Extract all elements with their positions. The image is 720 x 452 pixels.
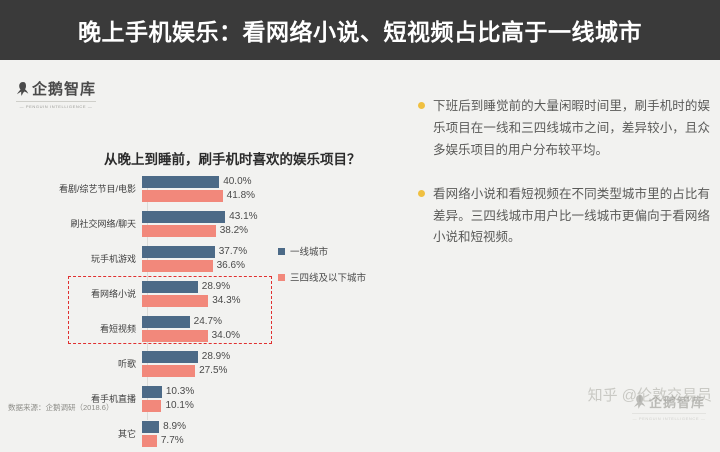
chart-bar-group: 10.3% [142, 386, 410, 398]
chart-bar-group: 37.7% [142, 246, 410, 258]
brand-tagline: — PENGUIN INTELLIGENCE — [12, 104, 100, 109]
chart-row-bars: 43.1%38.2% [142, 211, 410, 239]
chart-row: 听歌28.9%27.5% [0, 347, 410, 382]
chart-bar[interactable] [142, 351, 198, 363]
chart-bar-group: 8.9% [142, 421, 410, 433]
chart-bar-value: 43.1% [229, 211, 257, 222]
chart-legend: 一线城市 三四线及以下城市 [278, 244, 366, 296]
chart-row-label: 看剧/综艺节目/电影 [0, 185, 142, 195]
chart-bar-value: 41.8% [227, 190, 255, 201]
watermark-brand-logo: 企鹅智库 — PENGUIN INTELLIGENCE — [626, 392, 712, 421]
chart-bar[interactable] [142, 176, 219, 188]
page-title: 晚上手机娱乐：看网络小说、短视频占比高于一线城市 [78, 13, 642, 47]
watermark-brand-name: 企鹅智库 [649, 392, 705, 411]
chart-bar[interactable] [142, 246, 215, 258]
chart-bar[interactable] [142, 400, 161, 412]
chart-bar-value: 40.0% [223, 176, 251, 187]
legend-swatch-icon [278, 274, 285, 281]
chart-bar-group: 38.2% [142, 225, 410, 237]
chart-bar[interactable] [142, 225, 216, 237]
commentary-panel: 下班后到睡觉前的大量闲暇时间里，刷手机时的娱乐项目在一线和三四线城市之间，差异较… [418, 96, 710, 271]
chart-bar[interactable] [142, 330, 208, 342]
chart-bar-value: 37.7% [219, 246, 247, 257]
chart-bar-group: 24.7% [142, 316, 410, 328]
chart-row-label: 刷社交网络/聊天 [0, 220, 142, 230]
chart-row: 刷社交网络/聊天43.1%38.2% [0, 207, 410, 242]
watermark-brand-tagline: — PENGUIN INTELLIGENCE — [626, 416, 712, 421]
chart-bar[interactable] [142, 295, 208, 307]
chart-bar-group: 28.9% [142, 281, 410, 293]
chart-row-bars: 8.9%7.7% [142, 421, 410, 449]
chart-bar-group: 36.6% [142, 260, 410, 272]
chart-bar-value: 34.3% [212, 295, 240, 306]
chart-row-label: 看短视频 [0, 325, 142, 335]
chart-bar[interactable] [142, 316, 190, 328]
legend-item-tier34[interactable]: 三四线及以下城市 [278, 270, 366, 284]
chart-bar[interactable] [142, 190, 223, 202]
chart-row-label: 看网络小说 [0, 290, 142, 300]
commentary-bullet: 下班后到睡觉前的大量闲暇时间里，刷手机时的娱乐项目在一线和三四线城市之间，差异较… [418, 96, 710, 162]
chart-bar-group: 10.1% [142, 400, 410, 412]
legend-item-tier1[interactable]: 一线城市 [278, 244, 366, 258]
chart-bar[interactable] [142, 211, 225, 223]
chart-row-bars: 10.3%10.1% [142, 386, 410, 414]
chart-bar-group: 27.5% [142, 365, 410, 377]
chart-bar[interactable] [142, 386, 162, 398]
chart-bar[interactable] [142, 260, 213, 272]
chart-bar-group: 43.1% [142, 211, 410, 223]
brand-logo-main: 企鹅智库 [12, 78, 100, 99]
chart-row-bars: 40.0%41.8% [142, 176, 410, 204]
slide-body: 企鹅智库 — PENGUIN INTELLIGENCE — 从晚上到睡前，刷手机… [0, 60, 720, 423]
legend-swatch-icon [278, 248, 285, 255]
chart-row: 看短视频24.7%34.0% [0, 312, 410, 347]
chart-bar-value: 36.6% [217, 260, 245, 271]
bullet-dot-icon [418, 102, 425, 109]
chart-bar-value: 10.3% [166, 386, 194, 397]
source-note: 数据来源：企鹅调研（2018.6） [8, 402, 113, 413]
chart-row-bars: 37.7%36.6% [142, 246, 410, 274]
legend-label: 三四线及以下城市 [290, 270, 366, 284]
chart-bar[interactable] [142, 365, 195, 377]
chart-bar-value: 38.2% [220, 225, 248, 236]
chart-bar[interactable] [142, 281, 198, 293]
commentary-bullet: 看网络小说和看短视频在不同类型城市里的占比有差异。三四线城市用户比一线城市更偏向… [418, 184, 710, 250]
commentary-bullet-text: 下班后到睡觉前的大量闲暇时间里，刷手机时的娱乐项目在一线和三四线城市之间，差异较… [433, 96, 710, 162]
chart-bar-value: 28.9% [202, 281, 230, 292]
chart-bar-value: 27.5% [199, 365, 227, 376]
watermark-brand-main: 企鹅智库 [626, 392, 712, 411]
chart-row: 其它8.9%7.7% [0, 417, 410, 452]
bar-chart: 看剧/综艺节目/电影40.0%41.8%刷社交网络/聊天43.1%38.2%玩手… [0, 172, 410, 422]
brand-name: 企鹅智库 [32, 78, 96, 99]
chart-bar-value: 24.7% [194, 316, 222, 327]
brand-logo: 企鹅智库 — PENGUIN INTELLIGENCE — [12, 78, 100, 109]
penguin-icon [633, 394, 647, 410]
bullet-dot-icon [418, 190, 425, 197]
chart-row-label: 玩手机游戏 [0, 255, 142, 265]
chart-bar-group: 28.9% [142, 351, 410, 363]
chart-row-label: 听歌 [0, 360, 142, 370]
chart-bar-value: 10.1% [165, 400, 193, 411]
chart-bar-group: 40.0% [142, 176, 410, 188]
chart-row-bars: 28.9%34.3% [142, 281, 410, 309]
commentary-bullet-text: 看网络小说和看短视频在不同类型城市里的占比有差异。三四线城市用户比一线城市更偏向… [433, 184, 710, 250]
chart-bar-group: 41.8% [142, 190, 410, 202]
chart-row-bars: 24.7%34.0% [142, 316, 410, 344]
chart-bar-group: 34.0% [142, 330, 410, 342]
chart-bar[interactable] [142, 421, 159, 433]
legend-label: 一线城市 [290, 244, 328, 258]
penguin-icon [16, 81, 30, 97]
chart-bar-value: 28.9% [202, 351, 230, 362]
chart-row-bars: 28.9%27.5% [142, 351, 410, 379]
chart-bar-group: 34.3% [142, 295, 410, 307]
chart-bar-group: 7.7% [142, 435, 410, 447]
chart-bar[interactable] [142, 435, 157, 447]
chart-row: 看剧/综艺节目/电影40.0%41.8% [0, 172, 410, 207]
chart-subtitle: 从晚上到睡前，刷手机时喜欢的娱乐项目？ [104, 148, 361, 168]
chart-row-label: 其它 [0, 430, 142, 440]
chart-bar-value: 34.0% [212, 330, 240, 341]
slide-header: 晚上手机娱乐：看网络小说、短视频占比高于一线城市 [0, 0, 720, 60]
watermark-brand-rule [632, 413, 706, 414]
chart-bar-value: 7.7% [161, 435, 184, 446]
brand-logo-rule [16, 101, 96, 102]
